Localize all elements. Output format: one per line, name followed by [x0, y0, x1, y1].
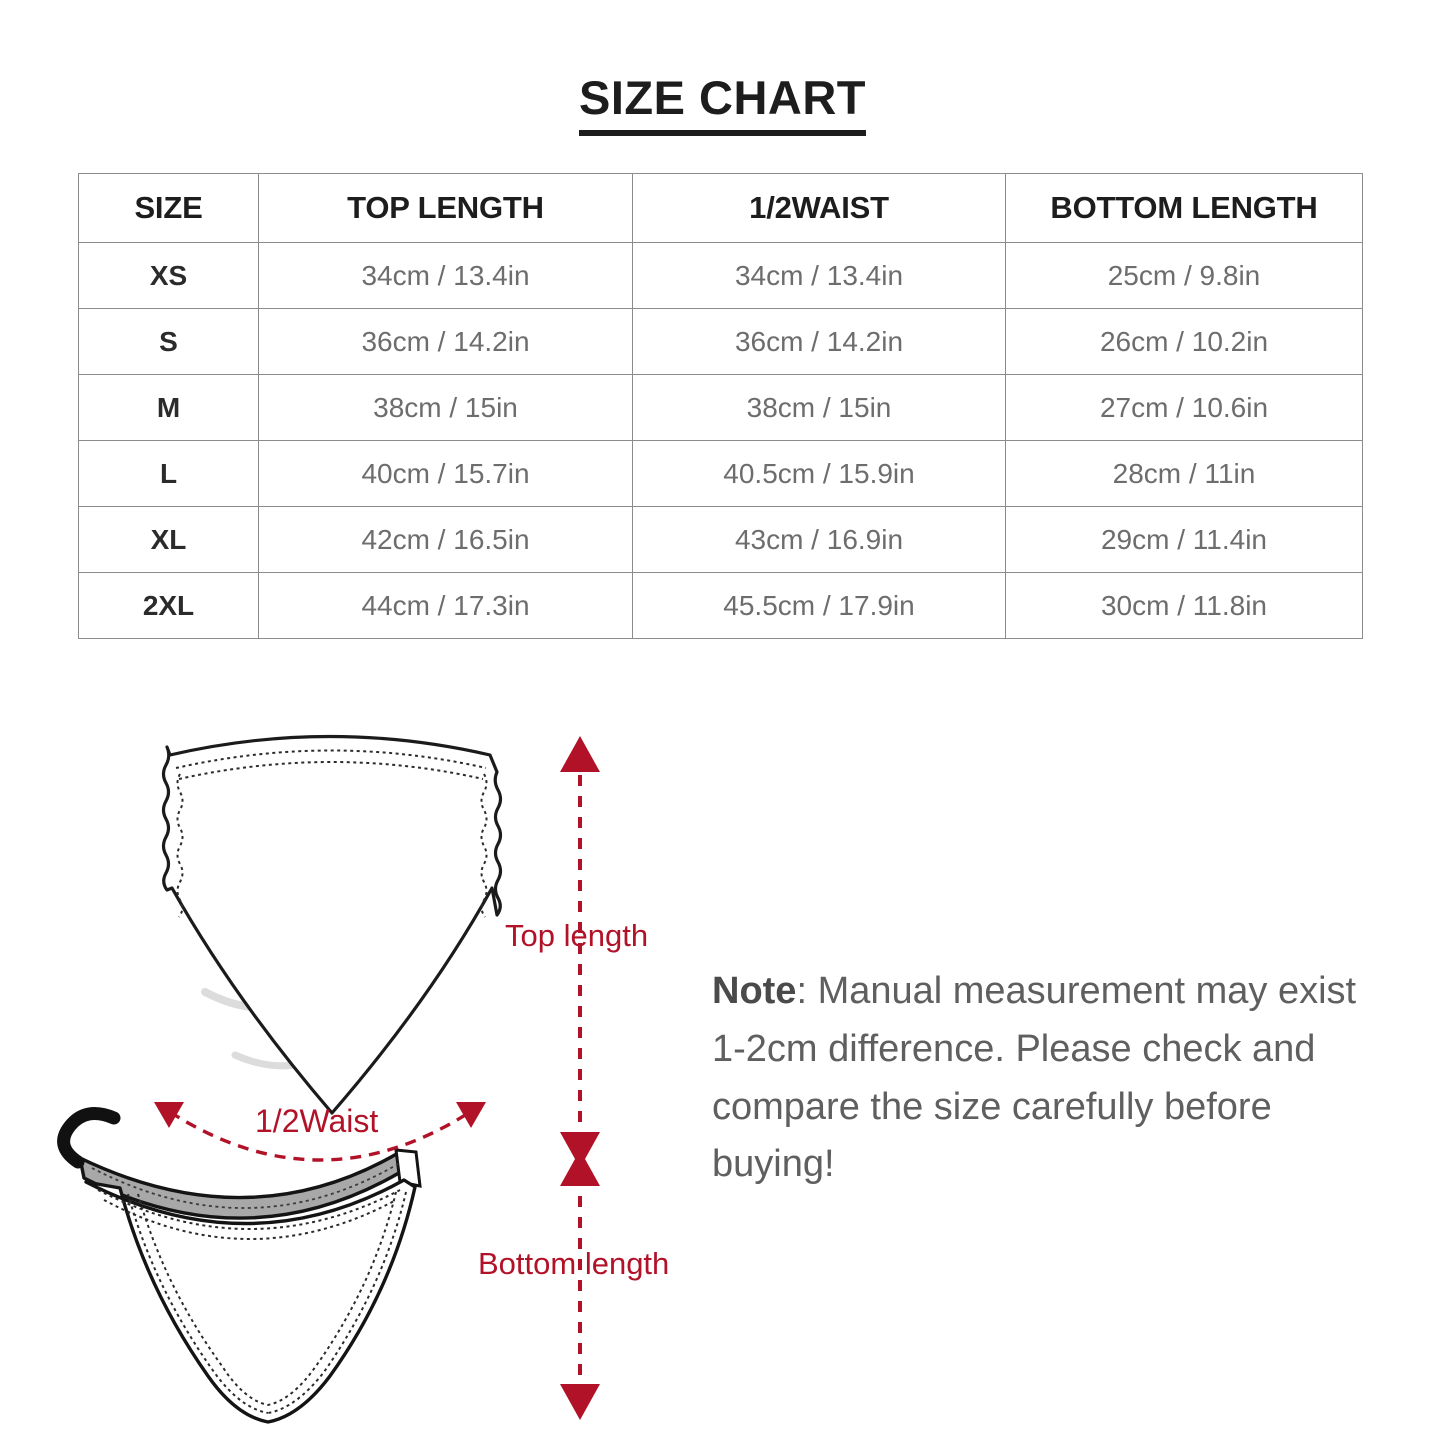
column-header-size: SIZE: [79, 174, 259, 243]
cell-half-waist: 40.5cm / 15.9in: [633, 441, 1006, 507]
cell-bottom-length: 29cm / 11.4in: [1006, 507, 1363, 573]
cell-top-length: 40cm / 15.7in: [259, 441, 633, 507]
cell-half-waist: 45.5cm / 17.9in: [633, 573, 1006, 639]
cell-size: 2XL: [79, 573, 259, 639]
top-length-arrowhead-up: [560, 736, 600, 772]
cell-size: M: [79, 375, 259, 441]
bottom-length-label: Bottom length: [478, 1248, 669, 1279]
bottom-length-arrowhead-down: [560, 1384, 600, 1420]
measurement-arrows: [470, 720, 730, 1440]
note-block: Note: Manual measurement may exist 1-2cm…: [712, 963, 1362, 1194]
cell-half-waist: 38cm / 15in: [633, 375, 1006, 441]
cell-size: L: [79, 441, 259, 507]
half-waist-label: 1/2Waist: [255, 1105, 378, 1137]
bottom-length-arrowhead-up: [560, 1150, 600, 1186]
cell-size: S: [79, 309, 259, 375]
page-title: SIZE CHART: [579, 74, 866, 136]
note-label: Note: [712, 970, 796, 1012]
table-row: XL 42cm / 16.5in 43cm / 16.9in 29cm / 11…: [79, 507, 1363, 573]
table-row: M 38cm / 15in 38cm / 15in 27cm / 10.6in: [79, 375, 1363, 441]
cell-top-length: 42cm / 16.5in: [259, 507, 633, 573]
cell-top-length: 44cm / 17.3in: [259, 573, 633, 639]
cell-top-length: 36cm / 14.2in: [259, 309, 633, 375]
column-header-top-length: TOP LENGTH: [259, 174, 633, 243]
table-row: S 36cm / 14.2in 36cm / 14.2in 26cm / 10.…: [79, 309, 1363, 375]
cell-bottom-length: 25cm / 9.8in: [1006, 243, 1363, 309]
page-title-container: SIZE CHART: [0, 74, 1445, 136]
size-chart-page: SIZE CHART SIZE TOP LENGTH 1/2WAIST BOTT…: [0, 0, 1445, 1445]
table-row: XS 34cm / 13.4in 34cm / 13.4in 25cm / 9.…: [79, 243, 1363, 309]
table-header-row: SIZE TOP LENGTH 1/2WAIST BOTTOM LENGTH: [79, 174, 1363, 243]
cell-half-waist: 36cm / 14.2in: [633, 309, 1006, 375]
cell-size: XS: [79, 243, 259, 309]
cell-bottom-length: 30cm / 11.8in: [1006, 573, 1363, 639]
cell-size: XL: [79, 507, 259, 573]
note-text: : Manual measurement may exist 1-2cm dif…: [712, 970, 1356, 1185]
cell-half-waist: 43cm / 16.9in: [633, 507, 1006, 573]
column-header-bottom-length: BOTTOM LENGTH: [1006, 174, 1363, 243]
cell-top-length: 38cm / 15in: [259, 375, 633, 441]
table-row: 2XL 44cm / 17.3in 45.5cm / 17.9in 30cm /…: [79, 573, 1363, 639]
cell-bottom-length: 28cm / 11in: [1006, 441, 1363, 507]
waist-arrowhead-left: [154, 1102, 184, 1128]
table-row: L 40cm / 15.7in 40.5cm / 15.9in 28cm / 1…: [79, 441, 1363, 507]
cell-top-length: 34cm / 13.4in: [259, 243, 633, 309]
cell-bottom-length: 27cm / 10.6in: [1006, 375, 1363, 441]
cell-half-waist: 34cm / 13.4in: [633, 243, 1006, 309]
size-chart-table: SIZE TOP LENGTH 1/2WAIST BOTTOM LENGTH X…: [78, 173, 1363, 639]
top-length-label: Top length: [505, 920, 648, 951]
cell-bottom-length: 26cm / 10.2in: [1006, 309, 1363, 375]
column-header-half-waist: 1/2WAIST: [633, 174, 1006, 243]
bikini-top-illustration: [164, 737, 501, 1114]
